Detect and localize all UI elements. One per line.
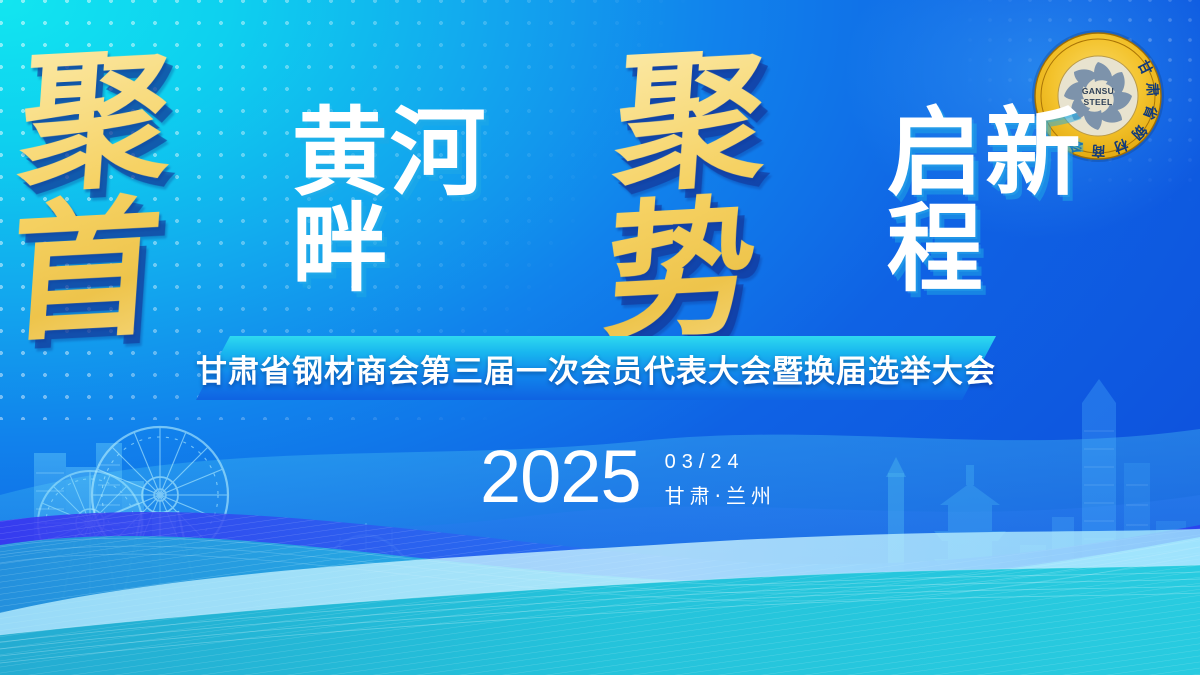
right-city [886, 379, 1186, 603]
headline-serif-phrase-2: 启新程 [887, 105, 1160, 297]
subtitle-text: 甘肃省钢材商会第三届一次会员代表大会暨换届选举大会 [196, 336, 996, 400]
headline-brush-phrase-2: 聚势 [598, 36, 892, 350]
mountain-silhouette [300, 557, 690, 645]
left-buildings [34, 443, 176, 603]
mountain-silhouette-right [740, 572, 1200, 645]
subtitle-ribbon: 甘肃省钢材商会第三届一次会员代表大会暨换届选举大会 [196, 336, 996, 400]
event-month-day: 03/24 [665, 451, 776, 474]
headline-brush-phrase-1: 聚首 [3, 36, 297, 350]
ferris-wheel-small [38, 471, 142, 603]
date-block: 2025 03/24 甘肃·兰州 [480, 440, 776, 514]
conference-banner: GANSU STEEL 甘肃省钢材商会 聚首 黄河畔 聚势 启新程 甘肃省钢材商… [0, 0, 1200, 675]
wave-line-texture [0, 565, 1200, 663]
headline: 聚首 黄河畔 聚势 启新程 [0, 78, 1160, 308]
left-building-windows [36, 465, 120, 565]
pagoda-tower [934, 465, 1006, 603]
bridge-arch [286, 523, 446, 603]
ferris-wheel-large [92, 427, 228, 603]
headline-serif-phrase-1: 黄河畔 [292, 105, 565, 297]
event-location: 甘肃·兰州 [665, 480, 776, 509]
event-year: 2025 [480, 440, 641, 514]
